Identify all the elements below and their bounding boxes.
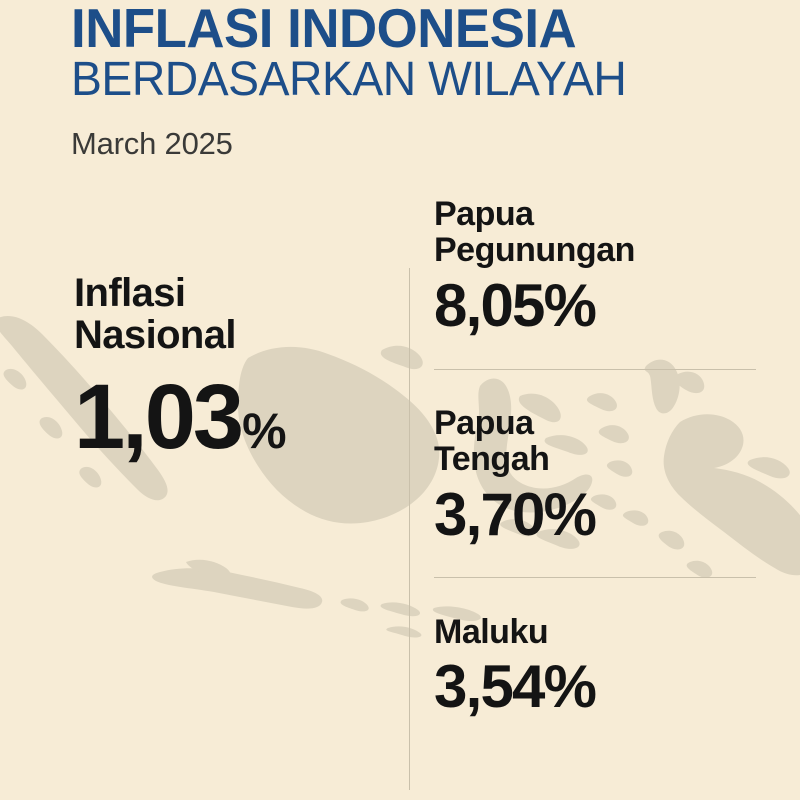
region-divider <box>434 369 756 370</box>
region-item: Maluku 3,54% <box>434 614 764 721</box>
infographic-poster: INFLASI INDONESIA BERDASARKAN WILAYAH Ma… <box>0 0 800 800</box>
report-date: March 2025 <box>71 126 771 162</box>
page-title-sub: BERDASARKAN WILAYAH <box>71 57 747 103</box>
region-value: 3,54% <box>434 653 764 720</box>
national-label-line1: Inflasi <box>74 272 394 314</box>
region-name-line2: Pegunungan <box>434 232 764 268</box>
national-label-line2: Nasional <box>74 314 394 356</box>
region-value: 8,05% <box>434 272 764 339</box>
page-title-main: INFLASI INDONESIA <box>71 2 743 55</box>
national-value-row: 1,03 % <box>74 371 394 463</box>
column-divider <box>409 268 410 790</box>
national-inflation-block: Inflasi Nasional 1,03 % <box>74 272 394 463</box>
region-value: 3,70% <box>434 481 764 548</box>
region-item: Papua Tengah 3,70% <box>434 405 764 548</box>
national-value-unit: % <box>242 406 285 456</box>
region-divider <box>434 577 756 578</box>
region-inflation-list: Papua Pegunungan 8,05% Papua Tengah 3,70… <box>434 196 764 720</box>
region-item: Papua Pegunungan 8,05% <box>434 196 764 339</box>
region-name-line1: Maluku <box>434 614 764 650</box>
header: INFLASI INDONESIA BERDASARKAN WILAYAH Ma… <box>71 0 771 162</box>
region-name-line1: Papua <box>434 405 764 441</box>
region-name-line1: Papua <box>434 196 764 232</box>
region-name-line2: Tengah <box>434 441 764 477</box>
national-value-number: 1,03 <box>74 371 241 463</box>
